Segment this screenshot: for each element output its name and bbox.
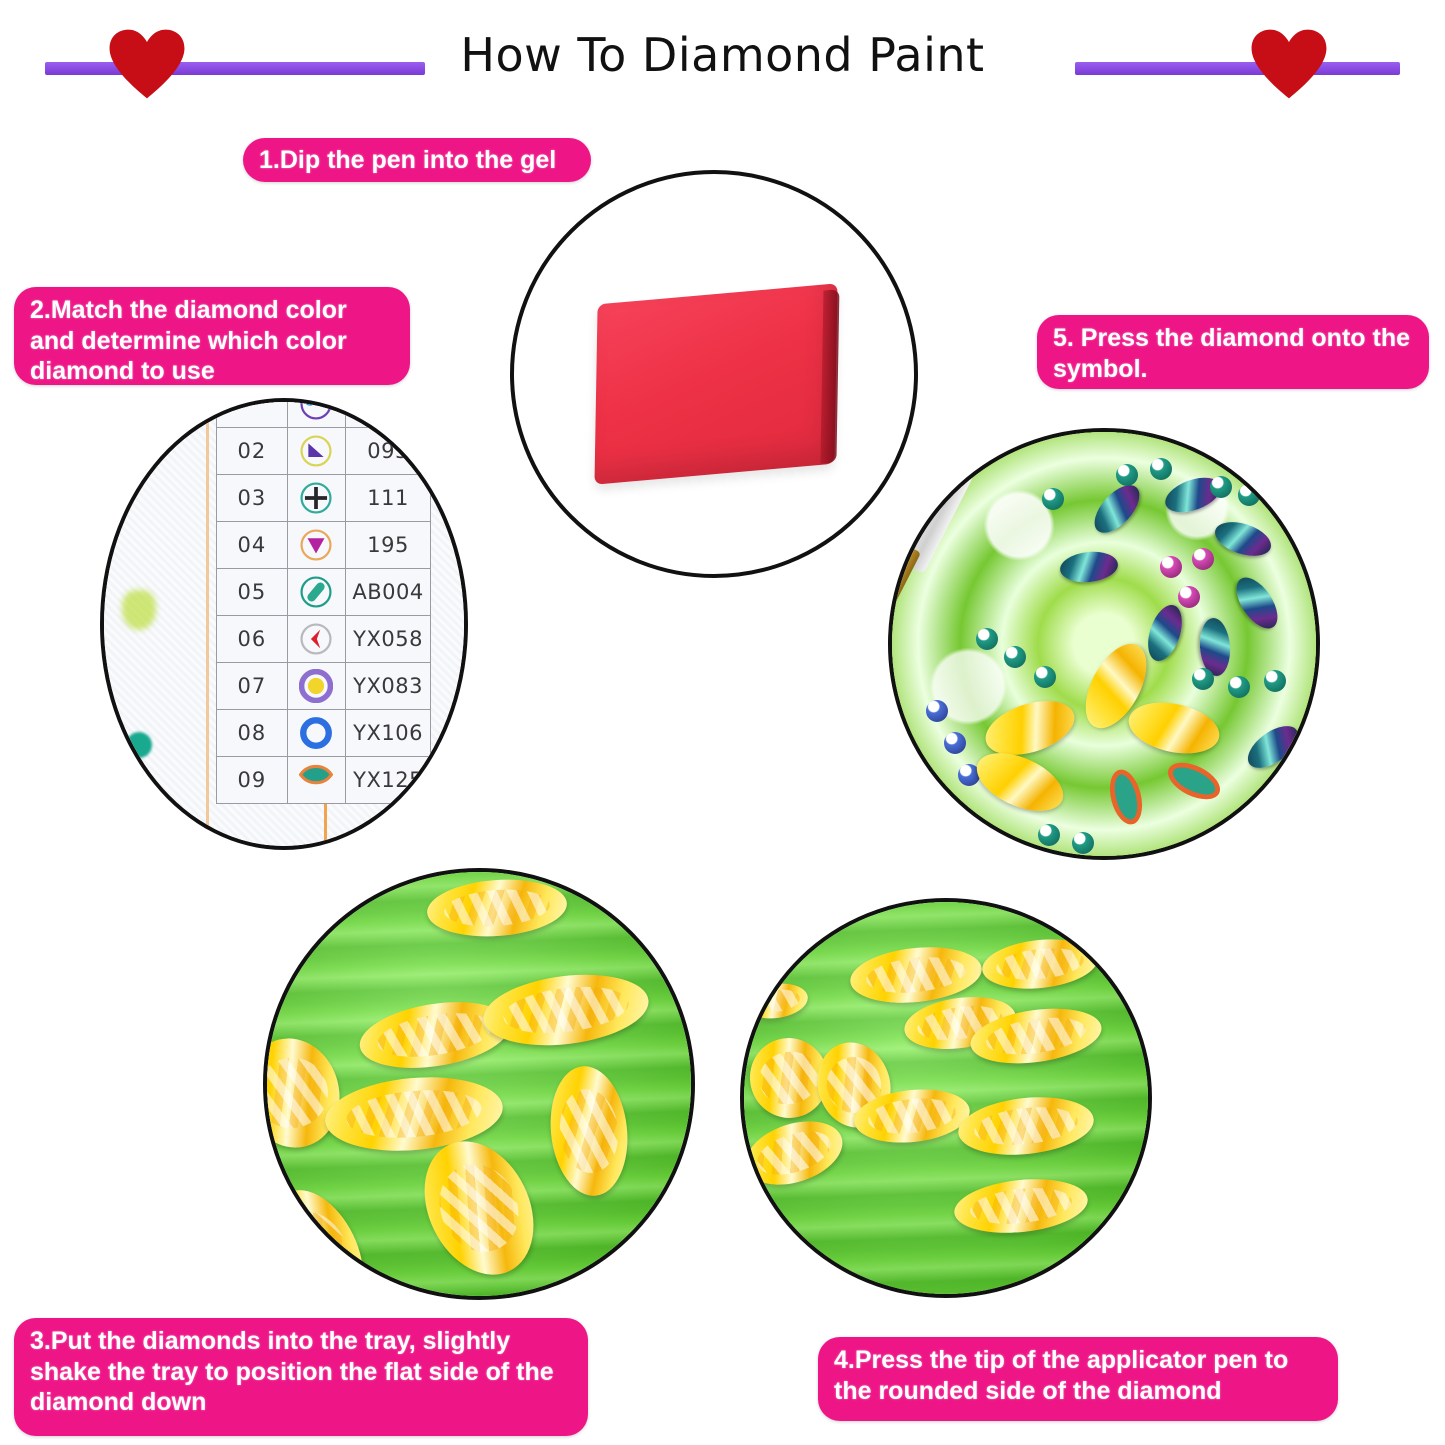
chart-cell-dmc: AB004 (346, 569, 431, 616)
open-ring-icon (299, 716, 333, 750)
printed-symbol-blur (122, 590, 156, 630)
header: How To Diamond Paint (0, 0, 1445, 115)
chart-cell-symbol (287, 522, 345, 569)
step-2-label: 2.Match the diamond color and determine … (14, 287, 410, 385)
chart-cell-code: 06 (217, 616, 288, 663)
printed-dot (1072, 832, 1094, 854)
chart-cell-symbol (287, 757, 345, 804)
chart-cell-code: 08 (217, 710, 288, 757)
chart-cell-dmc: YX058 (346, 616, 431, 663)
printed-dot (1004, 646, 1026, 668)
chart-cell-dmc: YX083 (346, 663, 431, 710)
printed-dot (1264, 670, 1286, 692)
printed-dot (1192, 668, 1214, 690)
slash-capsule-icon (299, 575, 333, 609)
printed-dot (944, 732, 966, 754)
chart-cell-dmc: 028 (346, 398, 431, 428)
chart-cell-dmc: YX125 (346, 757, 431, 804)
printed-dot (1038, 824, 1060, 846)
printed-dot (1178, 586, 1200, 608)
chart-cell-code: 09 (217, 757, 288, 804)
color-chart-table: 02802093031110419505AB00406YX05807YX0830… (216, 398, 431, 804)
printed-dot (1042, 488, 1064, 510)
printed-dot (1192, 548, 1214, 570)
photo-diamonds-in-tray (263, 868, 695, 1300)
printed-dot (1116, 464, 1138, 486)
step-4-label: 4.Press the tip of the applicator pen to… (818, 1337, 1338, 1421)
color-chart-row: 06YX058 (217, 616, 431, 663)
color-chart-row: 03111 (217, 475, 431, 522)
photo-press-onto-symbol (888, 428, 1320, 860)
printed-dot (1238, 484, 1260, 506)
photo-pen-into-gel (510, 170, 918, 578)
chart-cell-symbol (287, 398, 345, 428)
chart-cell-code: 02 (217, 428, 288, 475)
chart-cell-symbol (287, 475, 345, 522)
chart-cell-code: 07 (217, 663, 288, 710)
chart-cell-dmc: 111 (346, 475, 431, 522)
leaf-icon (299, 763, 333, 797)
filled-triangle-icon (299, 528, 333, 562)
applicator-pen (510, 170, 610, 394)
chart-cell-code: 05 (217, 569, 288, 616)
step-3-label: 3.Put the diamonds into the tray, slight… (14, 1318, 588, 1436)
color-chart-body: 02802093031110419505AB00406YX05807YX0830… (217, 398, 431, 804)
printed-dot (1160, 556, 1182, 578)
printed-dot (976, 628, 998, 650)
photo-pen-on-diamond (740, 898, 1152, 1298)
chart-cell-code: 03 (217, 475, 288, 522)
color-chart-row: 04195 (217, 522, 431, 569)
color-chart-row: 07YX083 (217, 663, 431, 710)
chart-cell-dmc: 093 (346, 428, 431, 475)
chart-cell-dmc: 195 (346, 522, 431, 569)
page-title: How To Diamond Paint (0, 28, 1445, 82)
color-chart-row: 09YX125 (217, 757, 431, 804)
double-dot-icon (299, 398, 333, 421)
chart-cell-symbol (287, 616, 345, 663)
printed-dot (1210, 476, 1232, 498)
gel-pad (594, 283, 837, 484)
photo-color-chart: 02802093031110419505AB00406YX05807YX0830… (100, 398, 468, 850)
printed-symbol-blur (126, 732, 152, 758)
chart-cell-symbol (287, 710, 345, 757)
chart-cell-code: 04 (217, 522, 288, 569)
color-chart-row: 05AB004 (217, 569, 431, 616)
printed-dot (1228, 676, 1250, 698)
color-chart-row: 08YX106 (217, 710, 431, 757)
triangle-icon (299, 434, 333, 468)
printed-dot (1034, 666, 1056, 688)
dot-ring-icon (299, 669, 333, 703)
pen-brass-tip (888, 541, 921, 612)
chart-cell-symbol (287, 428, 345, 475)
step-5-label: 5. Press the diamond onto the symbol. (1037, 315, 1429, 389)
printed-dot (1150, 458, 1172, 480)
color-chart-row: 028 (217, 398, 431, 428)
chart-cell-code (217, 398, 288, 428)
infographic-canvas: How To Diamond Paint 1.Dip the pen into … (0, 0, 1445, 1445)
printed-dot (926, 700, 948, 722)
color-chart-row: 02093 (217, 428, 431, 475)
chart-cell-symbol (287, 569, 345, 616)
chevron-left-icon (299, 622, 333, 656)
chart-cell-symbol (287, 663, 345, 710)
guide-line (206, 402, 209, 846)
plus-icon (299, 481, 333, 515)
chart-cell-dmc: YX106 (346, 710, 431, 757)
